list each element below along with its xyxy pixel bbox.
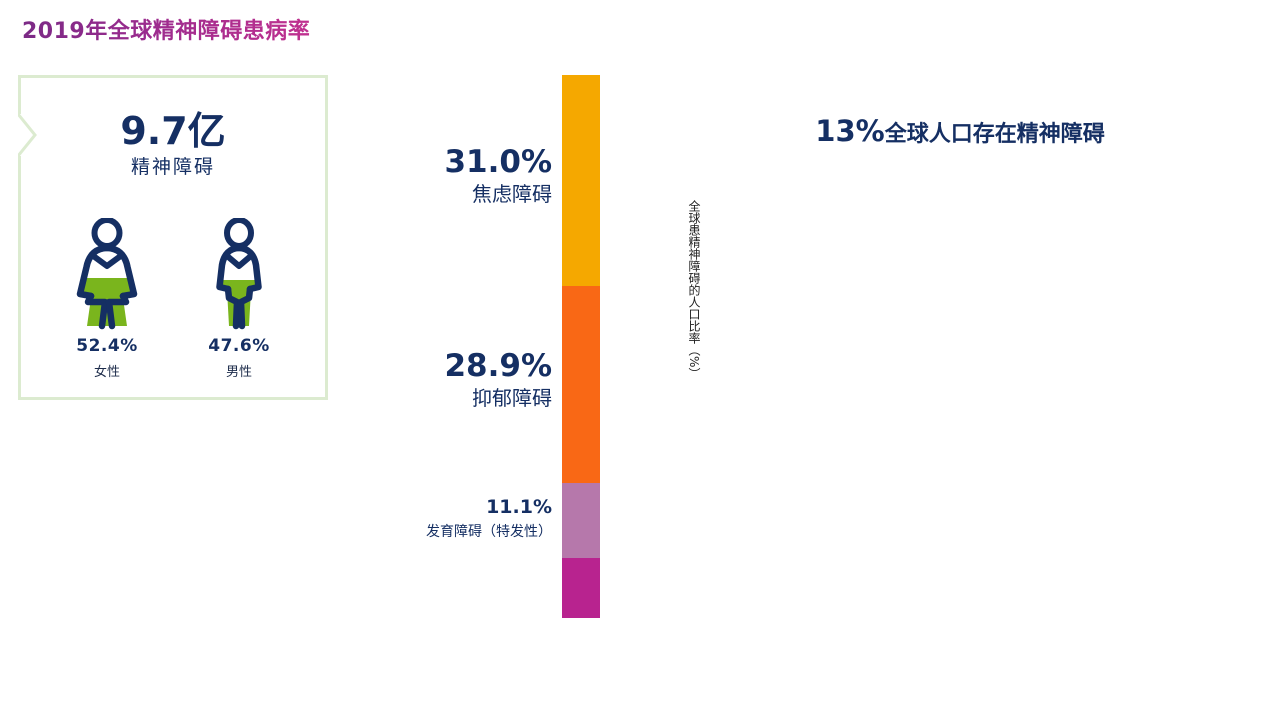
disorder-breakdown: 31.0%焦虑障碍28.9%抑郁障碍11.1%发育障碍（特发性） [330,75,600,720]
male-label: 男性 [197,361,281,380]
breakdown-label-1: 31.0%焦虑障碍 [444,146,552,208]
breakdown-name-2: 抑郁障碍 [444,385,552,412]
male-percent: 47.6% [197,336,281,356]
breakdown-value-3: 11.1% [426,496,552,518]
breakdown-value-1: 31.0% [444,146,552,179]
plot-area [710,175,1230,510]
breakdown-value-2: 28.9% [444,350,552,383]
breakdown-label-2: 28.9%抑郁障碍 [444,350,552,412]
chart-title: 13%全球人口存在精神障碍 [660,114,1260,148]
stacked-bar [562,75,600,720]
series-lines [762,175,1230,465]
female-label: 女性 [65,361,149,380]
gender-percentages: 52.4% 女性 47.6% 男性 [21,336,325,380]
female-percent: 52.4% [65,336,149,356]
total-count-label: 精神障碍 [21,152,325,179]
y-axis-title: 全球患精神障碍的人口比率（%） [678,200,700,379]
bar-segment-1 [562,75,600,286]
gender-figures [21,218,325,333]
female-stat: 52.4% 女性 [65,336,149,380]
female-figure-icon [67,218,147,330]
breakdown-name-1: 焦虑障碍 [444,181,552,208]
chart-title-percent: 13% [815,114,884,148]
breakdown-name-3: 发育障碍（特发性） [426,521,552,541]
male-stat: 47.6% 男性 [197,336,281,380]
total-count: 9.7亿 [21,100,325,155]
page-title: 2019年全球精神障碍患病率 [22,13,310,45]
male-figure-wrap [197,218,281,333]
bar-segment-2 [562,286,600,483]
bar-segment-3 [562,483,600,559]
infographic-page: 2019年全球精神障碍患病率 9.7亿 精神障碍 [0,0,1280,722]
breakdown-label-3: 11.1%发育障碍（特发性） [426,496,552,541]
chart-title-text: 全球人口存在精神障碍 [885,122,1105,147]
male-figure-icon [199,218,279,330]
female-figure-wrap [65,218,149,333]
prevalence-chart: 13%全球人口存在精神障碍 全球患精神障碍的人口比率（%） [660,100,1260,710]
bar-segment-4 [562,558,600,618]
summary-card: 9.7亿 精神障碍 [18,75,328,400]
